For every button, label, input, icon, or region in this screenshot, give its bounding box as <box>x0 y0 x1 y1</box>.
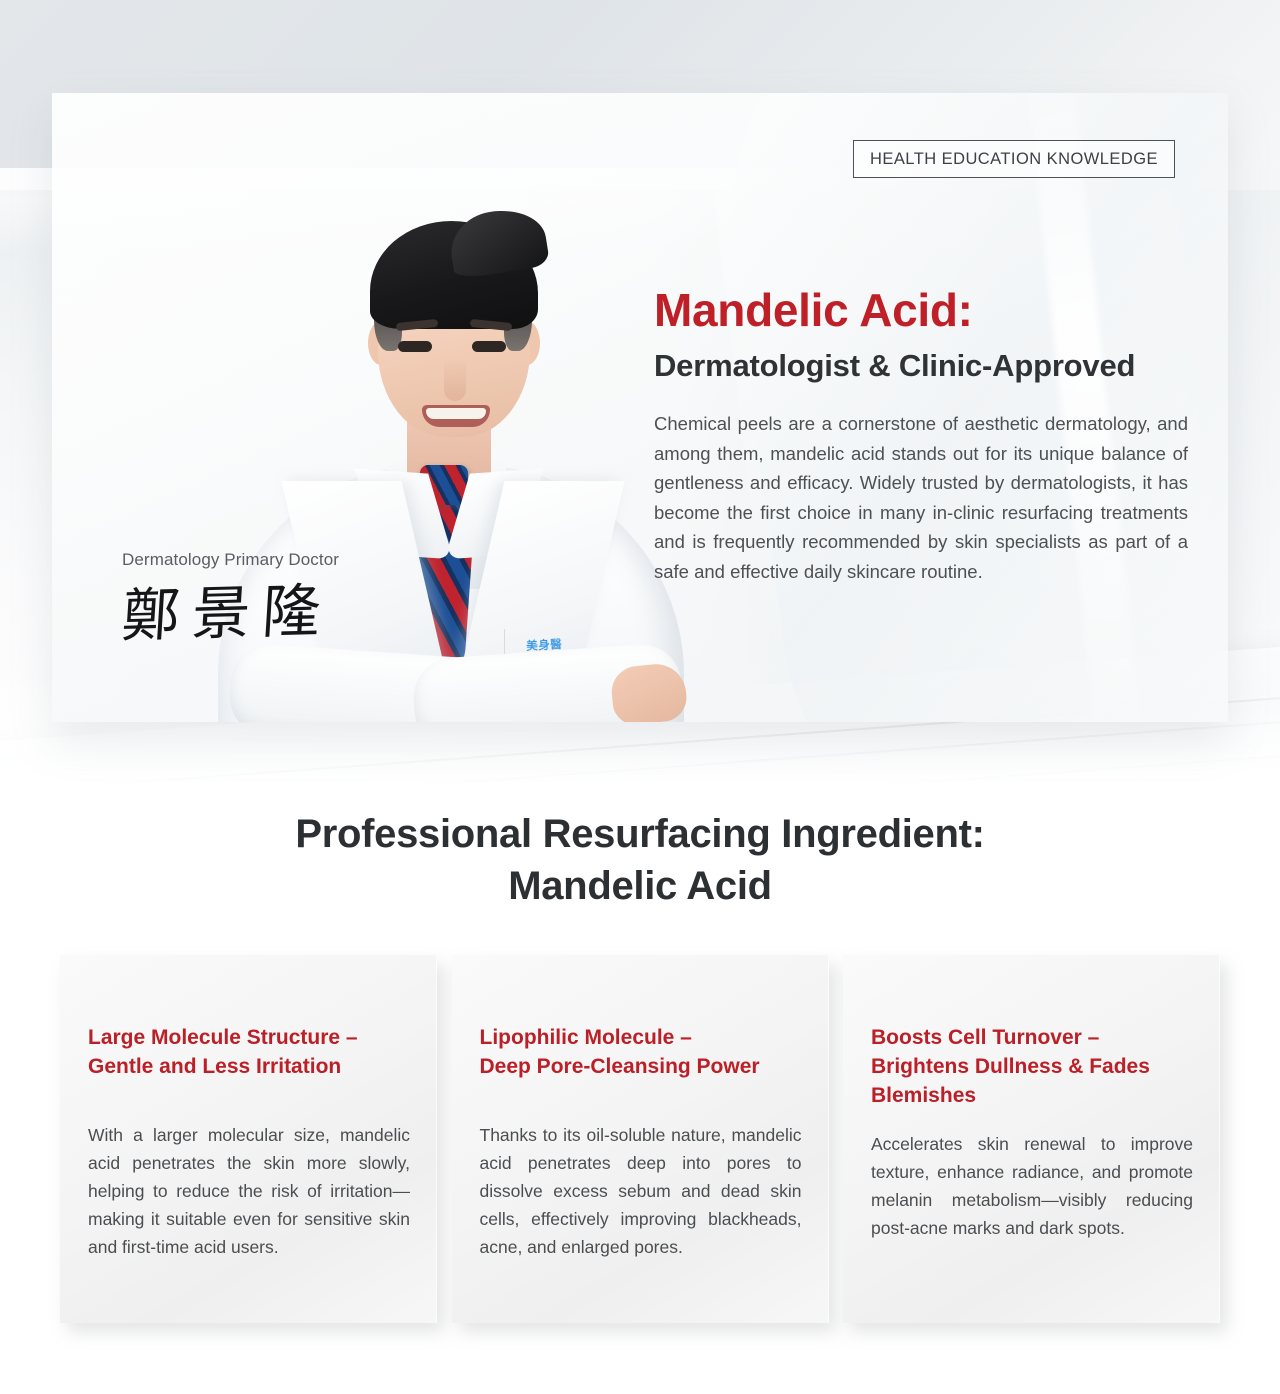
feature-card-list: Large Molecule Structure – Gentle and Le… <box>60 955 1220 1323</box>
feature-card-title: Large Molecule Structure – Gentle and Le… <box>88 1023 410 1081</box>
feature-card-title: Boosts Cell Turnover – Brightens Dullnes… <box>871 1023 1193 1110</box>
eye-right <box>472 341 506 352</box>
doctor-role-label: Dermatology Primary Doctor <box>122 550 462 570</box>
nose <box>444 357 466 401</box>
health-education-badge: HEALTH EDUCATION KNOWLEDGE <box>853 140 1175 178</box>
poster-page: HEALTH EDUCATION KNOWLEDGE <box>0 0 1280 1394</box>
feature-card-body: With a larger molecular size, mandelic a… <box>88 1121 410 1261</box>
hero-copy-block: Mandelic Acid: Dermatologist & Clinic-Ap… <box>654 283 1188 586</box>
feature-card-title: Lipophilic Molecule – Deep Pore-Cleansin… <box>480 1023 802 1081</box>
hair-quiff <box>446 204 551 280</box>
feature-card: Boosts Cell Turnover – Brightens Dullnes… <box>843 955 1220 1323</box>
hero-title: Mandelic Acid: <box>654 283 1188 337</box>
doctor-credential: Dermatology Primary Doctor 鄭景隆 <box>122 550 462 648</box>
teeth <box>426 408 486 419</box>
hero-banner: HEALTH EDUCATION KNOWLEDGE <box>52 93 1228 722</box>
eye-left <box>398 341 432 352</box>
feature-card: Large Molecule Structure – Gentle and Le… <box>60 955 437 1323</box>
feature-card-body: Thanks to its oil-soluble nature, mandel… <box>480 1121 802 1261</box>
mouth <box>422 405 490 427</box>
badge-label: HEALTH EDUCATION KNOWLEDGE <box>870 150 1158 169</box>
hero-subtitle: Dermatologist & Clinic-Approved <box>654 347 1188 385</box>
feature-card: Lipophilic Molecule – Deep Pore-Cleansin… <box>452 955 829 1323</box>
section-heading: Professional Resurfacing Ingredient: Man… <box>0 808 1280 912</box>
hero-body-paragraph: Chemical peels are a cornerstone of aest… <box>654 409 1188 586</box>
feature-card-body: Accelerates skin renewal to improve text… <box>871 1130 1193 1242</box>
doctor-signature: 鄭景隆 <box>120 575 465 648</box>
